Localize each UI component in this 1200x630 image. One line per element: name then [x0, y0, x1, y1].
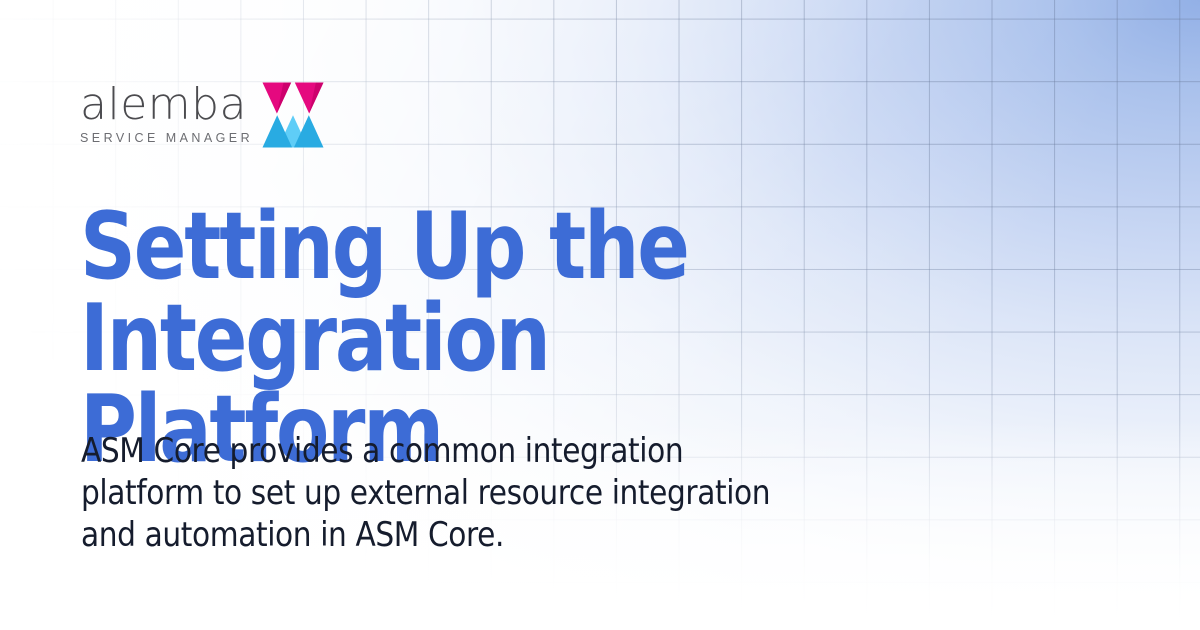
banner-content: alemba SERVICE MANAGER Setting — [0, 0, 1200, 630]
alemba-x-butterfly-logo-icon — [262, 82, 324, 148]
page-subtitle: ASM Core provides a common integration p… — [81, 430, 975, 556]
logo-wordmark-text: alemba — [80, 83, 253, 126]
alemba-service-manager-logo: alemba SERVICE MANAGER — [80, 75, 324, 147]
logo-wordmark-group: alemba SERVICE MANAGER — [80, 83, 253, 147]
logo-tagline-text: SERVICE MANAGER — [80, 131, 253, 145]
promo-banner: alemba SERVICE MANAGER Setting — [0, 0, 1200, 630]
